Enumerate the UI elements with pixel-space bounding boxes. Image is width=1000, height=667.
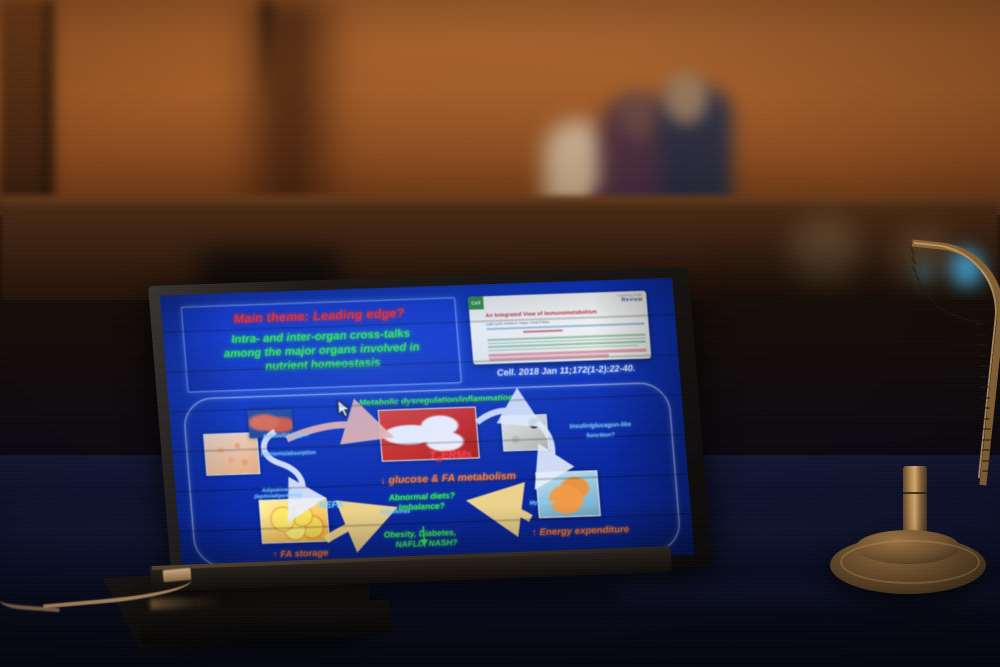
wall-left-edge-shadow (44, 0, 60, 215)
paper-text-line (523, 329, 563, 332)
label-terms-rest: ERMs (441, 449, 473, 462)
cell-journal-badge: Cell (468, 296, 484, 309)
microphone-gooseneck-rib (981, 407, 990, 409)
paper-citation: Cell. 2018 Jan 11;172(1-2):22-40. (476, 362, 657, 378)
portable-monitor[interactable]: Main theme: Leading edge? Intra- and int… (148, 267, 713, 595)
blurred-person-center-head (618, 92, 660, 140)
microphone-gooseneck-rib (979, 365, 988, 367)
label-fa-storage: ↑ FA storage (273, 548, 329, 561)
paper-brand-line2: Review (618, 297, 643, 304)
paper-thumbnail-group: Cell Leading Edge Review An Integrated V… (464, 288, 661, 386)
wainscot-highlight (0, 196, 1000, 206)
mouse-cursor-arrow-icon (337, 399, 352, 418)
microphone-gooseneck-rib (982, 470, 991, 472)
microphone-base-ring (840, 540, 980, 584)
microphone-gooseneck-rib (982, 460, 991, 462)
microphone-gooseneck-rib (970, 319, 979, 322)
paper-brand: Leading Edge Review (618, 293, 643, 304)
microphone-gooseneck-rib (978, 355, 987, 357)
usb-c-cable-plug (163, 568, 192, 582)
label-nefa: NEFA (319, 499, 344, 510)
microphone-collar-seam (903, 492, 927, 494)
microphone-collar (903, 466, 927, 538)
wall-dark-strip (230, 0, 350, 215)
microphone-gooseneck-rib (976, 323, 985, 325)
microphone-gooseneck-rib (981, 397, 990, 399)
blurred-person-right-head (664, 72, 708, 124)
slide-title-card: Main theme: Leading edge? Intra- and int… (181, 297, 462, 392)
photo-scene: Main theme: Leading edge? Intra- and int… (0, 0, 1000, 667)
microphone-gooseneck-rib (981, 418, 990, 420)
microphone-gooseneck-rib (978, 344, 987, 346)
microphone-gooseneck-rib (982, 439, 991, 441)
wall-seam (262, 0, 272, 105)
paper-thumbnail: Cell Leading Edge Review An Integrated V… (468, 291, 652, 365)
label-myokines: Myokines (529, 500, 555, 507)
monitor-screen[interactable]: Main theme: Leading edge? Intra- and int… (160, 278, 695, 573)
room-wall (0, 0, 1000, 215)
microphone-gooseneck-rib (977, 334, 986, 336)
microphone-gooseneck-rib (980, 386, 989, 388)
microphone-gooseneck-rib (982, 449, 991, 451)
label-terms: TRERMs (429, 449, 473, 466)
label-imbalance: Imbalance? (398, 502, 445, 513)
microphone-gooseneck-rib (980, 376, 989, 378)
microphone-gooseneck-rib (982, 428, 991, 430)
